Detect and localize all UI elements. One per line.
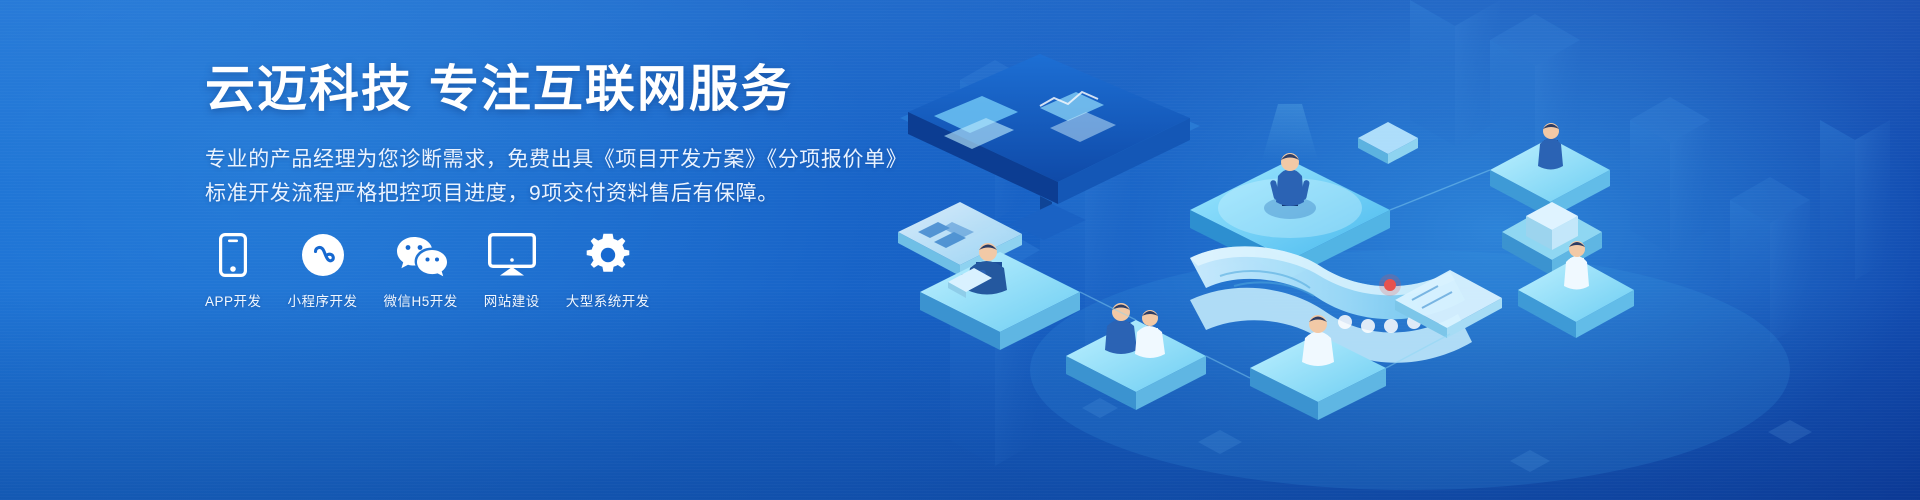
floating-panel-topright xyxy=(1358,122,1418,164)
service-item-app[interactable]: APP开发 xyxy=(205,232,262,310)
service-label: 大型系统开发 xyxy=(566,290,650,310)
isometric-illustration xyxy=(890,0,1920,500)
service-label: 网站建设 xyxy=(484,290,540,310)
service-list: APP开发 小程序开发 xyxy=(205,232,650,310)
wechat-icon xyxy=(395,232,447,278)
hero-copy: 云迈科技 专注互联网服务 专业的产品经理为您诊断需求，免费出具《项目开发方案》《… xyxy=(205,62,925,211)
gear-icon xyxy=(586,232,630,278)
hero-banner: 云迈科技 专注互联网服务 专业的产品经理为您诊断需求，免费出具《项目开发方案》《… xyxy=(0,0,1920,500)
service-item-large-system[interactable]: 大型系统开发 xyxy=(566,232,650,310)
service-item-website[interactable]: 网站建设 xyxy=(484,232,540,310)
subtitle-line-2: 标准开发流程严格把控项目进度，9项交付资料售后有保障。 xyxy=(205,177,925,211)
service-label: APP开发 xyxy=(205,290,262,310)
person-right-upper xyxy=(1538,123,1563,170)
service-item-wechat-h5[interactable]: 微信H5开发 xyxy=(384,232,458,310)
mobile-phone-icon xyxy=(219,232,247,278)
mini-program-icon xyxy=(301,232,345,278)
page-title: 云迈科技 专注互联网服务 xyxy=(205,62,925,117)
monitor-icon xyxy=(488,232,536,278)
service-item-miniprogram[interactable]: 小程序开发 xyxy=(288,232,358,310)
service-label: 微信H5开发 xyxy=(384,290,458,310)
person-center xyxy=(1264,153,1316,219)
subtitle-line-1: 专业的产品经理为您诊断需求，免费出具《项目开发方案》《分项报价单》 xyxy=(205,143,925,177)
hero-subtitle: 专业的产品经理为您诊断需求，免费出具《项目开发方案》《分项报价单》 标准开发流程… xyxy=(205,143,925,211)
service-label: 小程序开发 xyxy=(288,290,358,310)
